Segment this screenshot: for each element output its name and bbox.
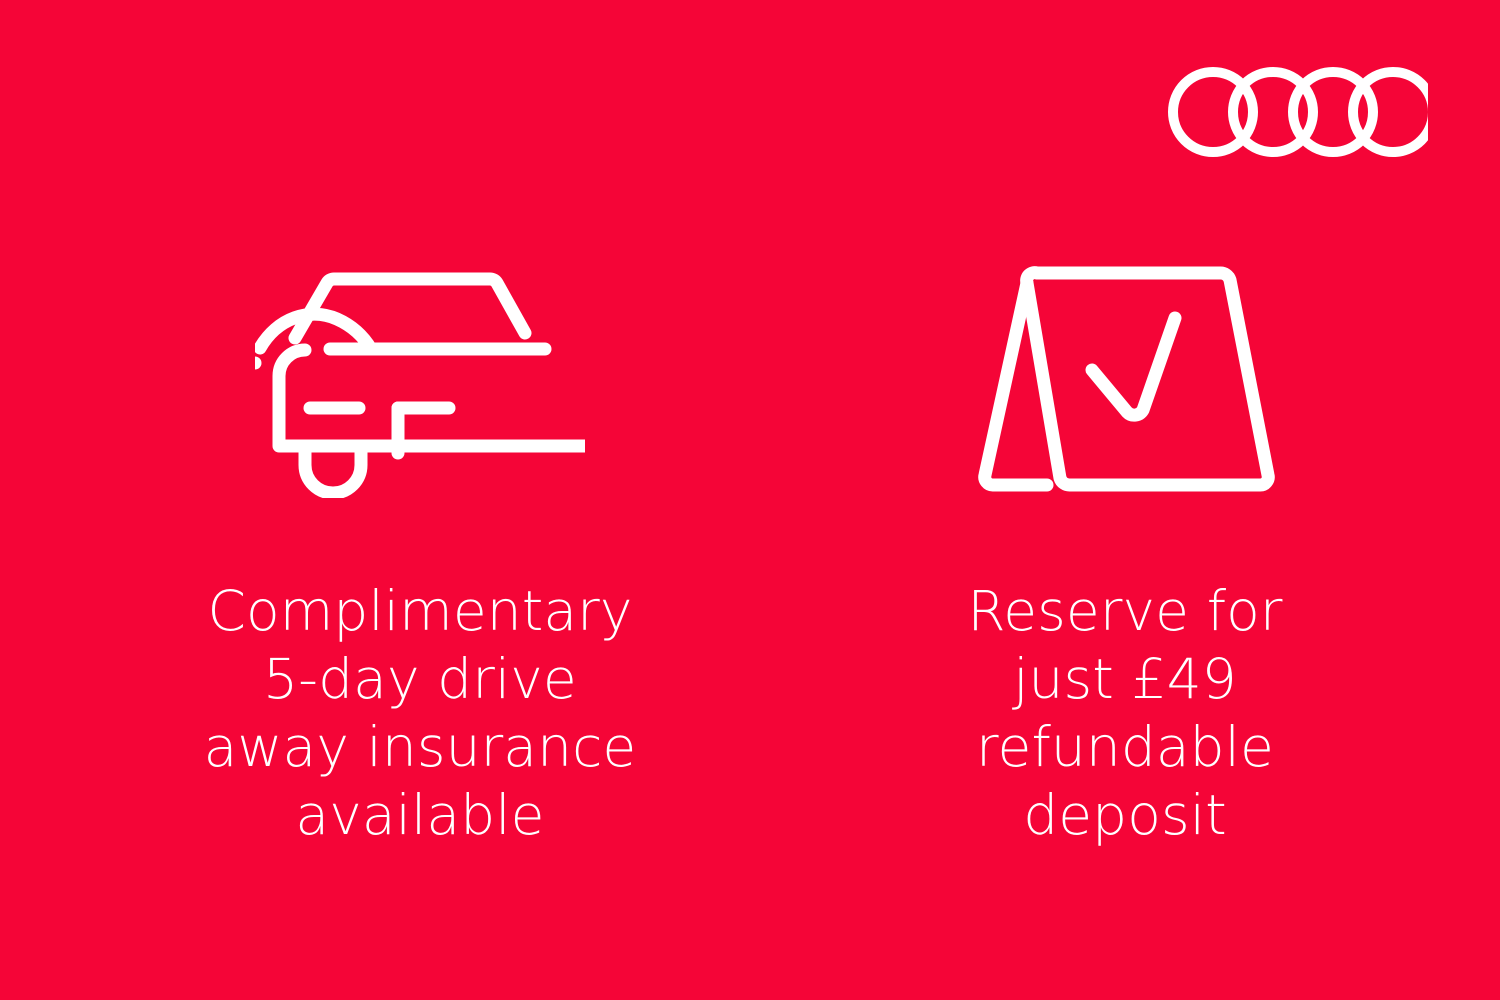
promo-banner: Complimentary 5-day drive away insurance… [0, 0, 1500, 1000]
feature-insurance-text: Complimentary 5-day drive away insurance… [204, 577, 637, 849]
car-shield-icon [255, 255, 585, 505]
tent-card-check-icon [975, 255, 1275, 505]
feature-deposit-text: Reserve for just £49 refundable deposit [967, 577, 1282, 849]
feature-insurance: Complimentary 5-day drive away insurance… [110, 255, 730, 849]
audi-four-rings-icon [1168, 62, 1428, 162]
feature-deposit: Reserve for just £49 refundable deposit [815, 255, 1435, 849]
